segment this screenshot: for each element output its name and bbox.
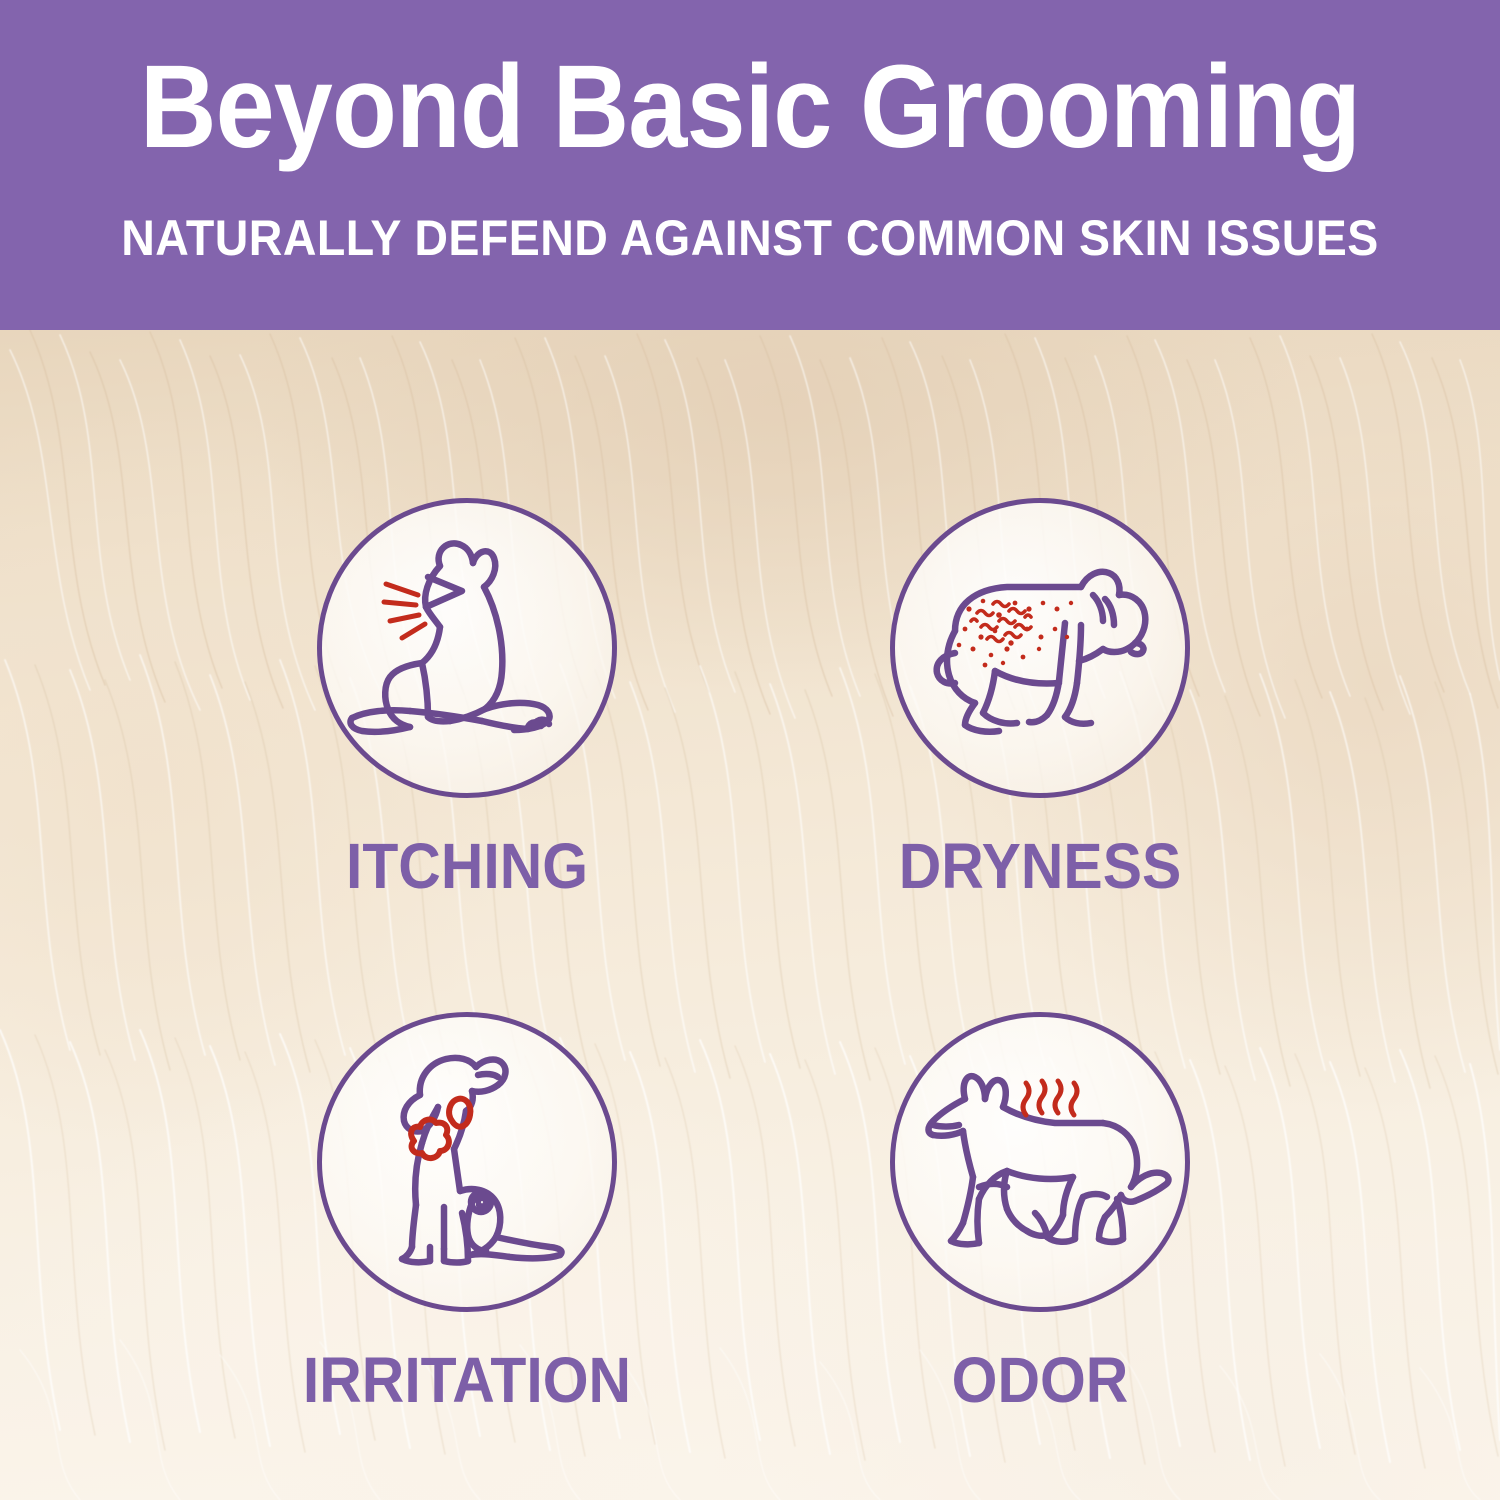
- icon-circle-dryness: [890, 498, 1190, 798]
- feature-label-dryness: DRYNESS: [863, 834, 1216, 898]
- dog-scratching-icon: [322, 503, 612, 793]
- dog-dry-flakes-icon: [895, 503, 1185, 793]
- feature-label-irritation: IRRITATION: [290, 1348, 643, 1412]
- itch-motion-lines-accent: [384, 584, 425, 638]
- page-subtitle: NATURALLY DEFEND AGAINST COMMON SKIN ISS…: [53, 213, 1448, 263]
- product-infographic: Beyond Basic Grooming NATURALLY DEFEND A…: [0, 0, 1500, 1500]
- feature-label-itching: ITCHING: [290, 834, 643, 898]
- fur-texture: [0, 330, 1500, 1500]
- odor-waves-accent: [1023, 1081, 1077, 1115]
- fur-background: [0, 330, 1500, 1500]
- icon-circle-itching: [317, 498, 617, 798]
- dog-odor-waves-icon: [895, 1017, 1185, 1307]
- page-title: Beyond Basic Grooming: [75, 48, 1425, 166]
- header-banner: Beyond Basic Grooming NATURALLY DEFEND A…: [0, 0, 1500, 330]
- dog-irritated-patch-icon: [322, 1017, 612, 1307]
- feature-label-odor: ODOR: [863, 1348, 1216, 1412]
- icon-circle-odor: [890, 1012, 1190, 1312]
- icon-circle-irritation: [317, 1012, 617, 1312]
